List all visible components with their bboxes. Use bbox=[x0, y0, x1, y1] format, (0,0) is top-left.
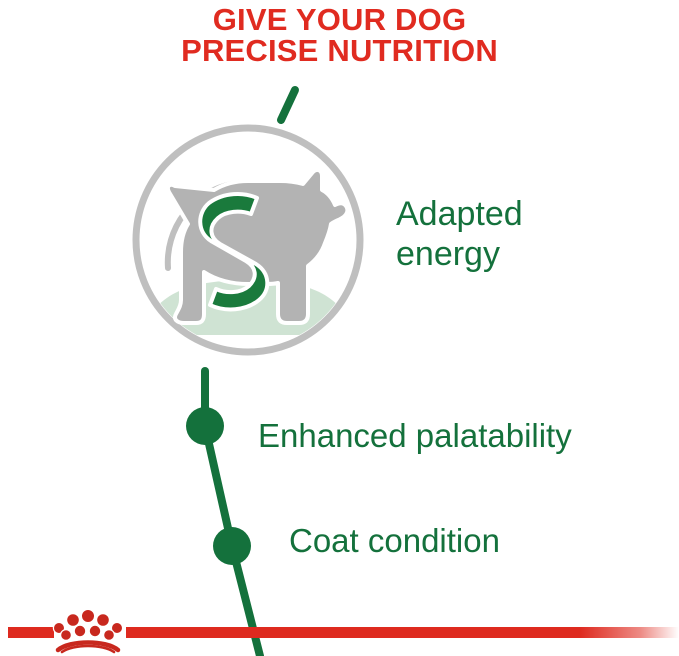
crown-dot-top-4 bbox=[97, 614, 110, 627]
benefit-label-adapted-energy: Adapted energy bbox=[396, 194, 523, 274]
dog-energy-badge bbox=[128, 120, 368, 360]
crown-dot-top-2 bbox=[67, 614, 80, 627]
footer-rule-left bbox=[8, 627, 54, 638]
crown-dot-bottom-3 bbox=[89, 625, 101, 637]
crown-base-arc-inner bbox=[62, 646, 114, 652]
crown-dot-bottom-1 bbox=[61, 630, 72, 641]
crown-dot-top-3 bbox=[81, 609, 94, 622]
connector-node-coat bbox=[213, 527, 251, 565]
page-title: GIVE YOUR DOG PRECISE NUTRITION bbox=[0, 4, 679, 66]
page-title-line-1: GIVE YOUR DOG bbox=[0, 4, 679, 35]
footer-rule-right bbox=[126, 627, 679, 638]
benefit-label-enhanced-palatability: Enhanced palatability bbox=[258, 416, 572, 456]
connector-segment-3 bbox=[232, 546, 260, 656]
connector-node-palatability bbox=[186, 407, 224, 445]
product-feature-panel: GIVE YOUR DOG PRECISE NUTRITION bbox=[0, 0, 679, 656]
page-title-line-2: PRECISE NUTRITION bbox=[0, 35, 679, 66]
crown-dot-bottom-2 bbox=[74, 625, 86, 637]
connector-segment-2 bbox=[205, 426, 232, 546]
crown-dot-bottom-4 bbox=[104, 630, 115, 641]
connector-segment-top bbox=[281, 90, 295, 120]
benefit-label-coat-condition: Coat condition bbox=[289, 521, 500, 561]
royal-canin-crown-logo bbox=[50, 602, 126, 654]
